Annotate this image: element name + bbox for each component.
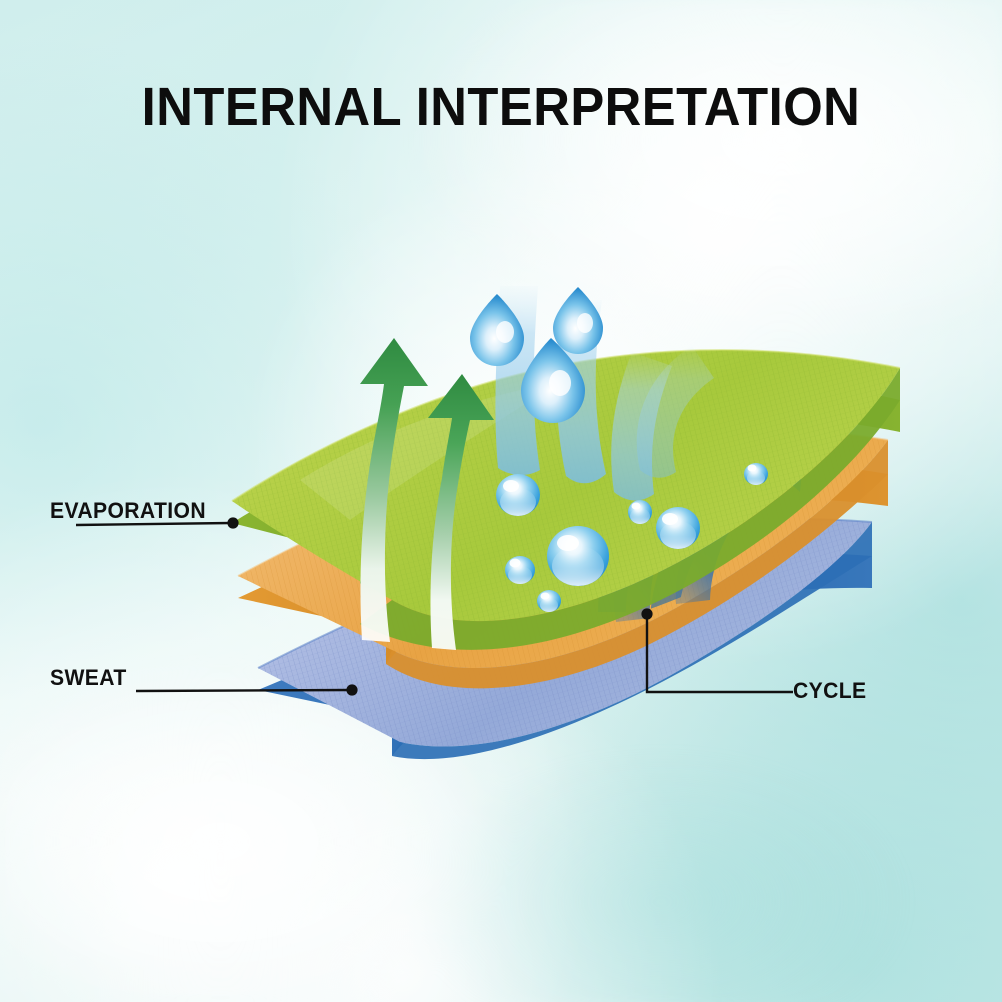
water-bead <box>628 500 652 524</box>
water-bead <box>496 474 540 516</box>
teardrop <box>553 287 603 354</box>
callout-dot-sweat <box>346 684 357 695</box>
infographic-canvas: INTERNAL INTERPRETATION <box>0 0 1002 1002</box>
callout-label-evaporation: EVAPORATION <box>50 498 206 524</box>
water-bead <box>656 507 700 549</box>
water-bead <box>537 590 561 612</box>
leader-line-sweat <box>136 690 350 691</box>
callout-label-cycle: CYCLE <box>793 678 867 704</box>
water-bead <box>743 460 761 476</box>
callout-label-sweat: SWEAT <box>50 665 127 691</box>
water-bead <box>505 556 535 584</box>
callout-dot-cycle <box>641 608 652 619</box>
water-bead <box>547 526 609 586</box>
callout-dot-evaporation <box>227 517 238 528</box>
